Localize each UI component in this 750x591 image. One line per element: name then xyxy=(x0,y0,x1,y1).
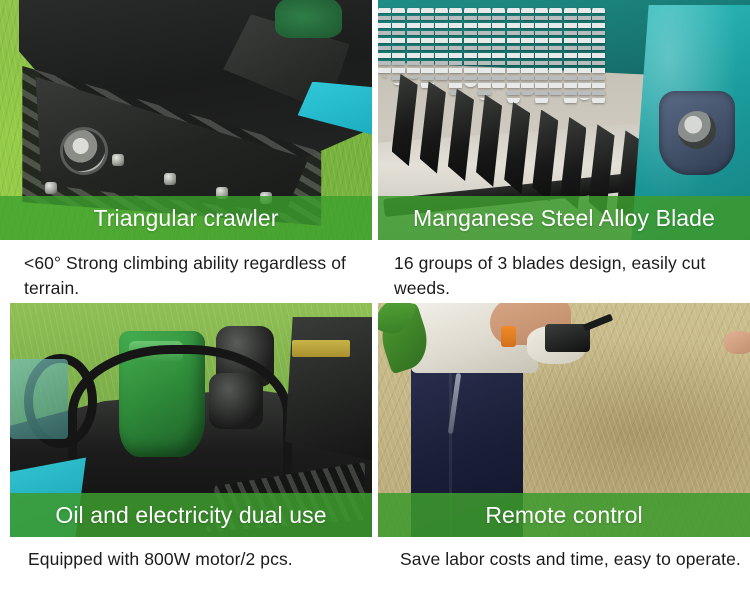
bolt-icon xyxy=(164,173,176,185)
bearing-housing-icon xyxy=(659,91,735,175)
caption-band-crawler: Triangular crawler xyxy=(0,196,372,240)
caption-label: Oil and electricity dual use xyxy=(55,502,326,529)
remote-control-photo: Remote control xyxy=(378,303,750,537)
engine-shape xyxy=(275,0,342,38)
bolt-icon xyxy=(112,154,124,166)
right-housing-shape xyxy=(285,317,372,462)
caption-band-blade: Manganese Steel Alloy Blade xyxy=(378,196,750,240)
description-blade: 16 groups of 3 blades design, easily cut… xyxy=(394,251,744,301)
feature-panel-oil-and-electricity-dual-use: Oil and electricity dual use Equipped wi… xyxy=(10,303,372,537)
caption-label: Triangular crawler xyxy=(93,205,278,232)
warning-label xyxy=(292,340,350,356)
description-remote: Save labor costs and time, easy to opera… xyxy=(400,547,744,572)
engine-photo: Oil and electricity dual use xyxy=(10,303,372,537)
bolt-icon xyxy=(45,182,57,194)
caption-label: Remote control xyxy=(485,502,642,529)
description-crawler: <60° Strong climbing ability regardless … xyxy=(24,251,354,301)
caption-band-engine: Oil and electricity dual use xyxy=(10,493,372,537)
feature-grid: Triangular crawler <60° Strong climbing … xyxy=(0,0,750,591)
caption-band-remote: Remote control xyxy=(378,493,750,537)
track-hub-icon xyxy=(63,130,105,172)
wristband-icon xyxy=(501,326,516,347)
second-hand-shape xyxy=(724,331,750,354)
seat-panel-shape xyxy=(10,359,68,439)
feature-panel-triangular-crawler: Triangular crawler <60° Strong climbing … xyxy=(0,0,372,240)
description-engine: Equipped with 800W motor/2 pcs. xyxy=(28,547,358,572)
crawler-photo: Triangular crawler xyxy=(0,0,372,240)
caption-label: Manganese Steel Alloy Blade xyxy=(413,205,715,232)
feature-panel-remote-control: Remote control Save labor costs and time… xyxy=(378,303,750,537)
feature-panel-manganese-steel-alloy-blade: Manganese Steel Alloy Blade 16 groups of… xyxy=(378,0,750,240)
blade-photo: Manganese Steel Alloy Blade xyxy=(378,0,750,240)
roll-bar-shape xyxy=(68,345,292,495)
